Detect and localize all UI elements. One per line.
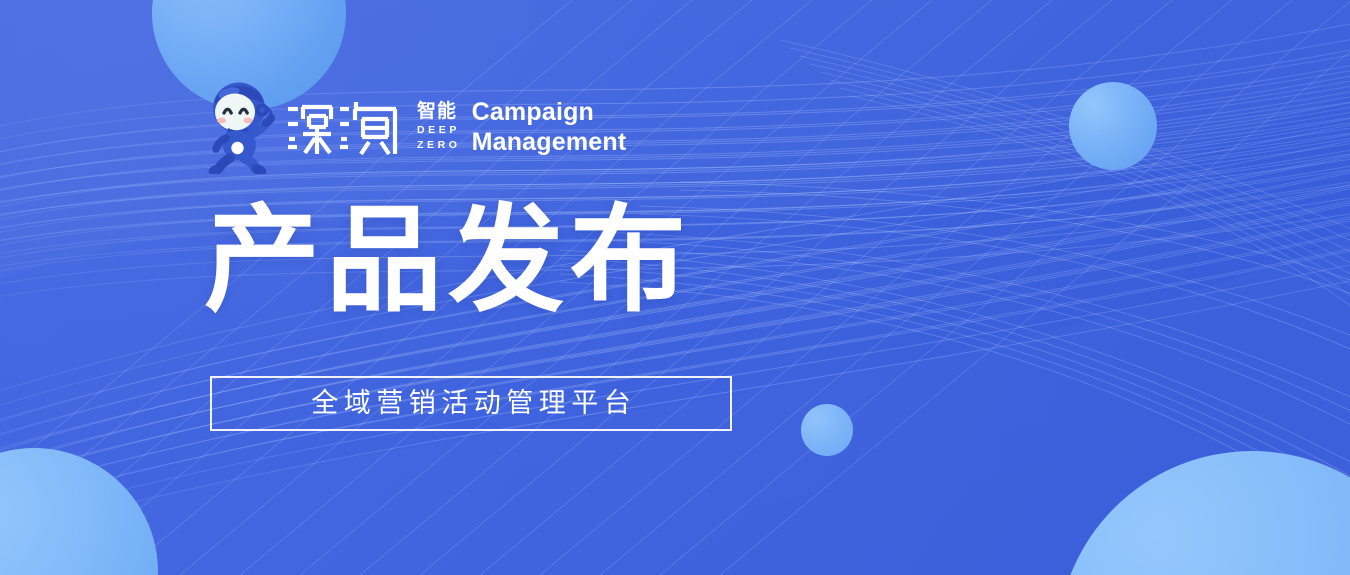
robot-mascot-icon (204, 80, 280, 174)
page-title: 产品发布 (204, 196, 692, 326)
subtitle-box: 全域营销活动管理平台 (210, 376, 732, 431)
product-name: Campaign Management (472, 97, 627, 158)
subtitle-text: 全域营销活动管理平台 (306, 390, 637, 417)
product-name-line2: Management (472, 127, 627, 158)
brand-sub-block: 智能 DEEP ZERO (417, 98, 461, 156)
shenyan-wordmark-icon (286, 98, 408, 156)
brand-lockup: 智能 DEEP ZERO Campaign Management (286, 97, 626, 158)
banner-content: 智能 DEEP ZERO Campaign Management 产品发布 全域… (0, 0, 1350, 575)
brand-logo-row: 智能 DEEP ZERO Campaign Management (204, 80, 626, 174)
brand-en-zero: ZERO (417, 139, 461, 152)
brand-cn-sub: 智能 (417, 102, 461, 121)
product-launch-banner: 智能 DEEP ZERO Campaign Management 产品发布 全域… (0, 0, 1350, 575)
brand-en-deep: DEEP (417, 124, 461, 137)
product-name-line1: Campaign (472, 97, 627, 128)
